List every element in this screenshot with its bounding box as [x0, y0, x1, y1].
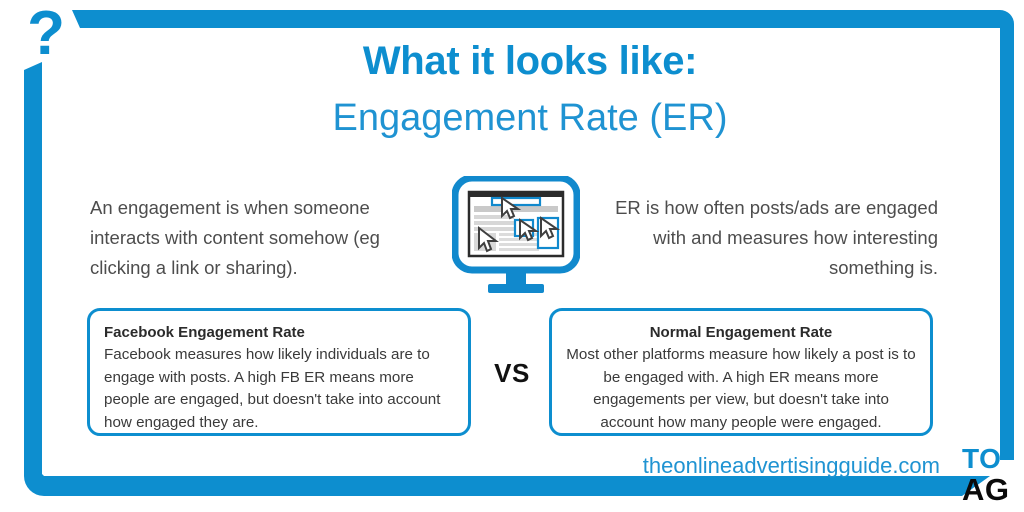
comparison-card-normal: Normal Engagement Rate Most other platfo… — [549, 308, 933, 436]
comparison-card-title: Normal Engagement Rate — [566, 322, 916, 343]
comparison-card-body: Most other platforms measure how likely … — [566, 344, 916, 434]
comparison-card-body: Facebook measures how likely individuals… — [104, 344, 454, 434]
title-subtitle: Engagement Rate (ER) — [90, 92, 970, 144]
logo-text-to: TO — [962, 443, 1024, 474]
page-title: What it looks like: Engagement Rate (ER) — [90, 36, 970, 144]
intro-text-left: An engagement is when someone interacts … — [90, 193, 435, 283]
comparison-card-facebook: Facebook Engagement Rate Facebook measur… — [87, 308, 471, 436]
infographic-canvas: ? What it looks like: Engagement Rate (E… — [0, 0, 1024, 512]
logo-text-ag: AG — [962, 474, 1024, 505]
comparison-card-title: Facebook Engagement Rate — [104, 322, 454, 343]
desktop-monitor-icon — [452, 176, 580, 294]
question-mark-icon: ? — [20, 2, 72, 66]
versus-label: VS — [480, 358, 544, 389]
frame-left-edge — [24, 62, 42, 470]
website-url[interactable]: theonlineadvertisingguide.com — [540, 452, 940, 480]
toag-logo: TO AG — [962, 443, 1024, 505]
title-main: What it looks like: — [90, 36, 970, 86]
intro-text-right: ER is how often posts/ads are engaged wi… — [593, 193, 938, 283]
